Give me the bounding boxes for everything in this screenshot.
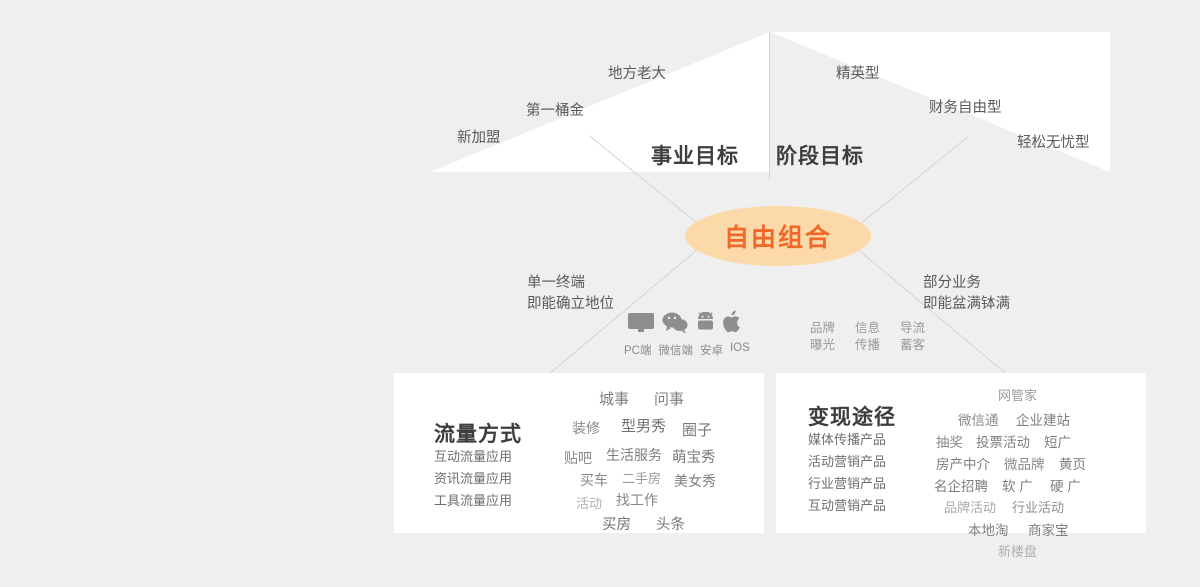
traffic-tag-14: 头条	[656, 513, 685, 534]
traffic-tag-11: 活动	[576, 493, 602, 512]
monetization-tag-0: 网管家	[998, 385, 1037, 404]
traffic-tag-12: 找工作	[616, 490, 658, 510]
roof-left-item-1: 第一桶金	[526, 99, 584, 120]
center-node-label: 自由组合	[724, 218, 832, 254]
device-label-group: PC端 微信端 安卓 IOS	[624, 342, 750, 358]
traffic-tag-10: 美女秀	[674, 471, 716, 491]
monetization-tag-9: 名企招聘	[934, 475, 988, 495]
diagram-canvas: 事业目标 阶段目标 地方老大 第一桶金 新加盟 精英型 财务自由型 轻松无忧型 …	[0, 0, 1200, 587]
monitor-icon	[628, 313, 654, 338]
monetization-tag-12: 品牌活动	[944, 497, 996, 516]
revenue-tag-2-line2: 蓄客	[900, 337, 925, 354]
roof-left-item-2: 新加盟	[457, 126, 501, 147]
monetization-list-item-1: 活动营销产品	[808, 451, 886, 473]
monetization-list-item-2: 行业营销产品	[808, 473, 886, 495]
traffic-tag-2: 装修	[572, 418, 600, 438]
monetization-tag-3: 抽奖	[936, 431, 963, 451]
monetization-list-item-3: 互动营销产品	[808, 495, 886, 517]
traffic-panel: 流量方式 互动流量应用 资讯流量应用 工具流量应用 城事 问事 装修 型男秀 圈…	[394, 373, 764, 533]
traffic-list-item-1: 资讯流量应用	[434, 468, 512, 490]
traffic-panel-title: 流量方式	[434, 418, 522, 448]
traffic-tag-3: 型男秀	[621, 415, 666, 436]
roof-left-title: 事业目标	[651, 140, 739, 170]
revenue-tag-2: 导流 蓄客	[900, 320, 925, 354]
traffic-tag-1: 问事	[654, 388, 684, 409]
roof-left-item-0: 地方老大	[608, 62, 666, 83]
monetization-tag-10: 软 广	[1002, 475, 1033, 495]
left-note-line2: 即能确立地位	[527, 294, 614, 315]
roof-divider	[769, 32, 770, 180]
revenue-tag-1-line1: 信息	[855, 320, 880, 337]
monetization-tag-4: 投票活动	[976, 431, 1030, 451]
monetization-tag-16: 新楼盘	[998, 541, 1037, 560]
monetization-tag-15: 商家宝	[1028, 519, 1069, 539]
traffic-tag-9: 二手房	[622, 468, 661, 487]
revenue-tag-2-line1: 导流	[900, 320, 925, 337]
right-note: 部分业务 即能盆满钵满	[923, 273, 1010, 315]
monetization-list-item-0: 媒体传播产品	[808, 429, 886, 451]
revenue-tag-1-line2: 传播	[855, 337, 880, 354]
traffic-list-item-0: 互动流量应用	[434, 446, 512, 468]
android-icon	[696, 312, 715, 338]
device-label-0: PC端	[624, 342, 651, 358]
monetization-tag-13: 行业活动	[1012, 497, 1064, 516]
monetization-panel-title: 变现途径	[808, 401, 896, 431]
monetization-panel-list: 媒体传播产品 活动营销产品 行业营销产品 互动营销产品	[808, 429, 886, 517]
traffic-tag-6: 生活服务	[606, 445, 662, 465]
left-note-line1: 单一终端	[527, 273, 614, 294]
device-icon-group	[628, 310, 768, 338]
monetization-tag-6: 房产中介	[936, 453, 990, 473]
traffic-tag-0: 城事	[599, 388, 629, 409]
traffic-tag-7: 萌宝秀	[672, 446, 716, 467]
wechat-icon	[662, 312, 688, 338]
monetization-tag-5: 短广	[1044, 431, 1071, 451]
revenue-tag-0-line1: 品牌	[810, 320, 835, 337]
monetization-panel: 变现途径 媒体传播产品 活动营销产品 行业营销产品 互动营销产品 网管家 微信通…	[776, 373, 1146, 533]
center-node: 自由组合	[685, 206, 871, 266]
traffic-tag-13: 买房	[602, 513, 631, 534]
traffic-list-item-2: 工具流量应用	[434, 490, 512, 512]
roof-right-title: 阶段目标	[776, 140, 864, 170]
monetization-tag-2: 企业建站	[1016, 409, 1070, 429]
roof-right-item-1: 财务自由型	[929, 96, 1002, 117]
revenue-tag-0: 品牌 曝光	[810, 320, 835, 354]
apple-icon	[723, 310, 742, 338]
traffic-tag-8: 买车	[580, 470, 608, 490]
roof-right-item-0: 精英型	[836, 62, 880, 83]
traffic-tag-5: 贴吧	[564, 448, 592, 468]
monetization-tag-11: 硬 广	[1050, 475, 1081, 495]
monetization-tag-1: 微信通	[958, 409, 999, 429]
left-note: 单一终端 即能确立地位	[527, 273, 614, 315]
traffic-panel-list: 互动流量应用 资讯流量应用 工具流量应用	[434, 446, 512, 512]
revenue-tag-0-line2: 曝光	[810, 337, 835, 354]
right-note-line1: 部分业务	[923, 273, 1010, 294]
device-label-1: 微信端	[658, 342, 693, 358]
right-note-line2: 即能盆满钵满	[923, 294, 1010, 315]
device-label-2: 安卓	[700, 342, 723, 358]
revenue-tag-1: 信息 传播	[855, 320, 880, 354]
monetization-tag-14: 本地淘	[968, 519, 1009, 539]
roof-right-item-2: 轻松无忧型	[1017, 131, 1090, 152]
monetization-tag-8: 黄页	[1059, 453, 1086, 473]
monetization-tag-7: 微品牌	[1004, 453, 1045, 473]
device-label-3: IOS	[730, 342, 750, 358]
traffic-tag-4: 圈子	[682, 419, 712, 440]
